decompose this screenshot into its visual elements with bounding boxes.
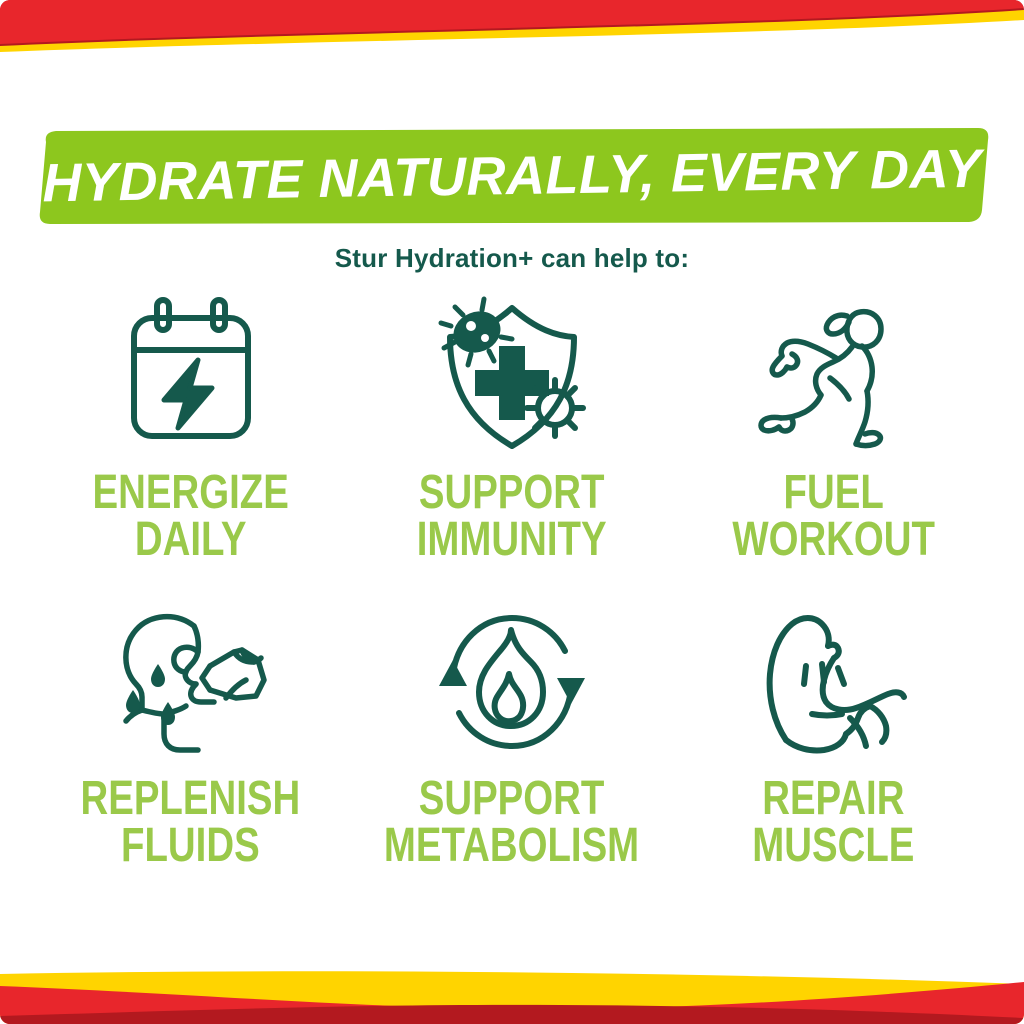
benefit-label: REPLENISH FLUIDS	[81, 776, 301, 869]
benefit-item-repair-muscle: REPAIR MUSCLE	[673, 602, 994, 898]
benefit-label: SUPPORT METABOLISM	[384, 776, 639, 869]
wave-white-base	[0, 924, 1024, 1024]
shield-cross-germ-icon	[427, 296, 597, 456]
benefit-item-support-immunity: SUPPORT IMMUNITY	[351, 296, 672, 592]
benefit-label: ENERGIZE DAILY	[93, 470, 289, 563]
bottom-wave-banner	[0, 924, 1024, 1024]
benefit-item-fuel-workout: FUEL WORKOUT	[673, 296, 994, 592]
benefit-label: FUEL WORKOUT	[732, 470, 935, 563]
wave-yellow-shape	[0, 971, 1024, 1024]
benefit-label: SUPPORT IMMUNITY	[417, 470, 607, 563]
wave-dark-red-shape	[0, 0, 1024, 70]
headline-text: HYDRATE NATURALLY, EVERY DAY	[33, 120, 990, 231]
headline-banner: HYDRATE NATURALLY, EVERY DAY	[34, 128, 990, 224]
benefits-grid: ENERGIZE DAILY	[30, 296, 994, 898]
promotional-infographic: HYDRATE NATURALLY, EVERY DAY Stur Hydrat…	[0, 0, 1024, 1024]
benefit-item-energize-daily: ENERGIZE DAILY	[30, 296, 351, 592]
running-person-icon	[748, 296, 918, 456]
wave-red-shape	[0, 0, 1024, 44]
wave-dark-red-shape	[0, 1005, 1024, 1024]
wave-yellow-shape	[0, 10, 1024, 70]
flame-cycle-icon	[427, 602, 597, 762]
top-wave-banner	[0, 0, 1024, 70]
benefit-item-replenish-fluids: REPLENISH FLUIDS	[30, 602, 351, 898]
subtitle-text: Stur Hydration+ can help to:	[0, 243, 1024, 274]
arrow-up-shape	[439, 660, 467, 686]
flexed-bicep-icon	[748, 602, 918, 762]
calendar-bolt-icon	[106, 296, 276, 456]
head-drinking-water-icon	[106, 602, 276, 762]
arrow-down-shape	[557, 678, 585, 704]
wave-white-base	[0, 20, 1024, 70]
benefit-item-support-metabolism: SUPPORT METABOLISM	[351, 602, 672, 898]
wave-red-shape	[0, 982, 1024, 1024]
benefit-label: REPAIR MUSCLE	[752, 776, 914, 869]
